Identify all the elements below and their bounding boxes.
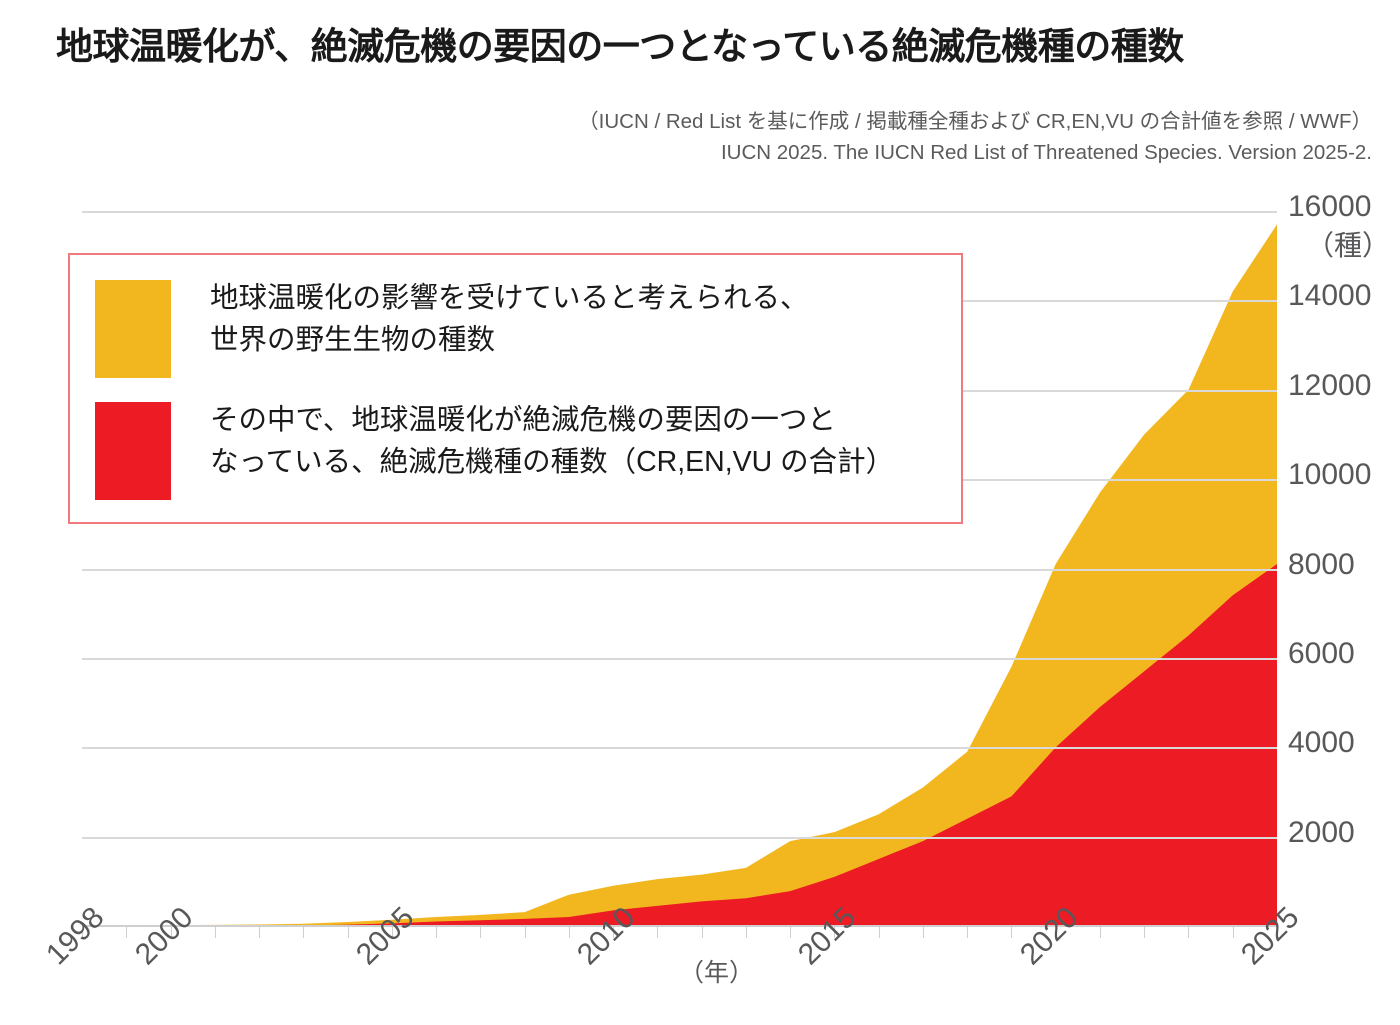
legend-item-threatened-label: その中で、地球温暖化が絶滅危機の要因の一つと なっている、絶滅危機種の種数（CR… [210,399,894,483]
x-axis-tick-2021 [1100,927,1101,938]
gridline-6000 [82,658,1277,660]
x-axis-tick-2011 [657,927,658,938]
legend-item-threatened: その中で、地球温暖化が絶滅危機の要因の一つと なっている、絶滅危機種の種数（CR… [95,399,894,500]
x-axis-tick-2006 [436,927,437,938]
x-axis-tick-2003 [303,927,304,938]
y-axis-tick-12000: 12000 [1288,369,1371,403]
x-axis-tick-2013 [746,927,747,938]
x-axis-title: （年） [679,953,754,989]
total-species-swatch [95,280,171,378]
legend-item-total-label: 地球温暖化の影響を受けていると考えられる、 世界の野生生物の種数 [210,277,809,361]
source-note-line-1: （IUCN / Red List を基に作成 / 掲載種全種および CR,EN,… [0,106,1372,137]
x-axis-tick-2024 [1233,927,1234,938]
x-axis-tick-2014 [790,927,791,938]
x-axis-line [82,925,1278,927]
x-axis-tick-2016 [879,927,880,938]
x-axis-tick-2002 [259,927,260,938]
legend-item-total: 地球温暖化の影響を受けていると考えられる、 世界の野生生物の種数 [95,277,809,378]
chart-figure: 地球温暖化が、絶滅危機の要因の一つとなっている絶滅危機種の種数 （IUCN / … [0,0,1400,1025]
x-axis-tick-2008 [525,927,526,938]
x-axis-tick-2009 [569,927,570,938]
y-axis-tick-8000: 8000 [1288,548,1355,582]
y-axis-tick-10000: 10000 [1288,458,1371,492]
legend-threatened-line-2: なっている、絶滅危機種の種数（CR,EN,VU の合計） [210,441,894,483]
x-axis-tick-2017 [923,927,924,938]
x-axis-tick-2023 [1188,927,1189,938]
threatened-species-swatch [95,402,171,500]
x-axis-tick-2007 [480,927,481,938]
y-axis-tick-14000: 14000 [1288,279,1371,313]
x-axis-tick-2001 [215,927,216,938]
x-axis-tick-2018 [967,927,968,938]
gridline-8000 [82,569,1277,571]
chart-source-note: （IUCN / Red List を基に作成 / 掲載種全種および CR,EN,… [0,106,1372,168]
gridline-16000 [82,211,1277,213]
y-axis-tick-16000: 16000 [1288,190,1371,224]
y-axis-tick-2000: 2000 [1288,816,1355,850]
y-axis-tick-4000: 4000 [1288,726,1355,760]
page-title: 地球温暖化が、絶滅危機の要因の一つとなっている絶滅危機種の種数 [56,26,1376,69]
x-axis-tick-2004 [348,927,349,938]
gridline-4000 [82,747,1277,749]
x-axis-tick-2019 [1011,927,1012,938]
legend-total-line-2: 世界の野生生物の種数 [210,319,809,361]
legend-total-line-1: 地球温暖化の影響を受けていると考えられる、 [210,277,809,319]
legend-threatened-line-1: その中で、地球温暖化が絶滅危機の要因の一つと [210,399,894,441]
gridline-2000 [82,837,1277,839]
x-axis-tick-2012 [702,927,703,938]
x-axis-tick-2022 [1144,927,1145,938]
chart-legend: 地球温暖化の影響を受けていると考えられる、 世界の野生生物の種数 その中で、地球… [68,253,963,524]
y-axis-unit-label: （種） [1306,224,1390,264]
x-axis-tick-1999 [126,927,127,938]
source-note-line-2: IUCN 2025. The IUCN Red List of Threaten… [0,137,1372,168]
y-axis-tick-6000: 6000 [1288,637,1355,671]
